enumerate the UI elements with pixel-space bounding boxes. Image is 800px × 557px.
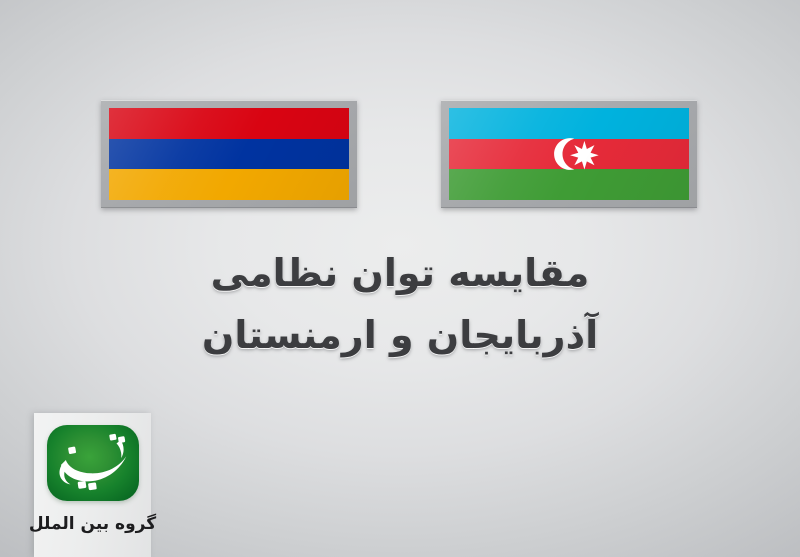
tasnim-calligraphy-icon bbox=[47, 425, 139, 501]
flag-armenia-field bbox=[109, 108, 349, 200]
tasnim-logo-mark bbox=[47, 425, 139, 501]
crescent-and-star-icon bbox=[532, 133, 606, 175]
headline-line-2: آذربایجان و ارمنستان bbox=[0, 305, 800, 367]
flag-armenia-stripe-orange bbox=[109, 169, 349, 200]
flag-armenia-stripe-blue bbox=[109, 139, 349, 170]
tasnim-logo-caption: گروه بین الملل bbox=[29, 514, 156, 534]
flag-armenia-stripe-red bbox=[109, 108, 349, 139]
flag-armenia bbox=[101, 100, 357, 208]
headline-line-1: مقایسه توان نظامی bbox=[0, 243, 800, 305]
tasnim-logo-block: گروه بین الملل bbox=[34, 413, 151, 557]
flag-azerbaijan-field bbox=[449, 108, 689, 200]
headline: مقایسه توان نظامی آذربایجان و ارمنستان bbox=[0, 243, 800, 366]
graphic-canvas: مقایسه توان نظامی آذربایجان و ارمنستان گ… bbox=[0, 0, 800, 557]
flag-azerbaijan bbox=[441, 100, 697, 208]
